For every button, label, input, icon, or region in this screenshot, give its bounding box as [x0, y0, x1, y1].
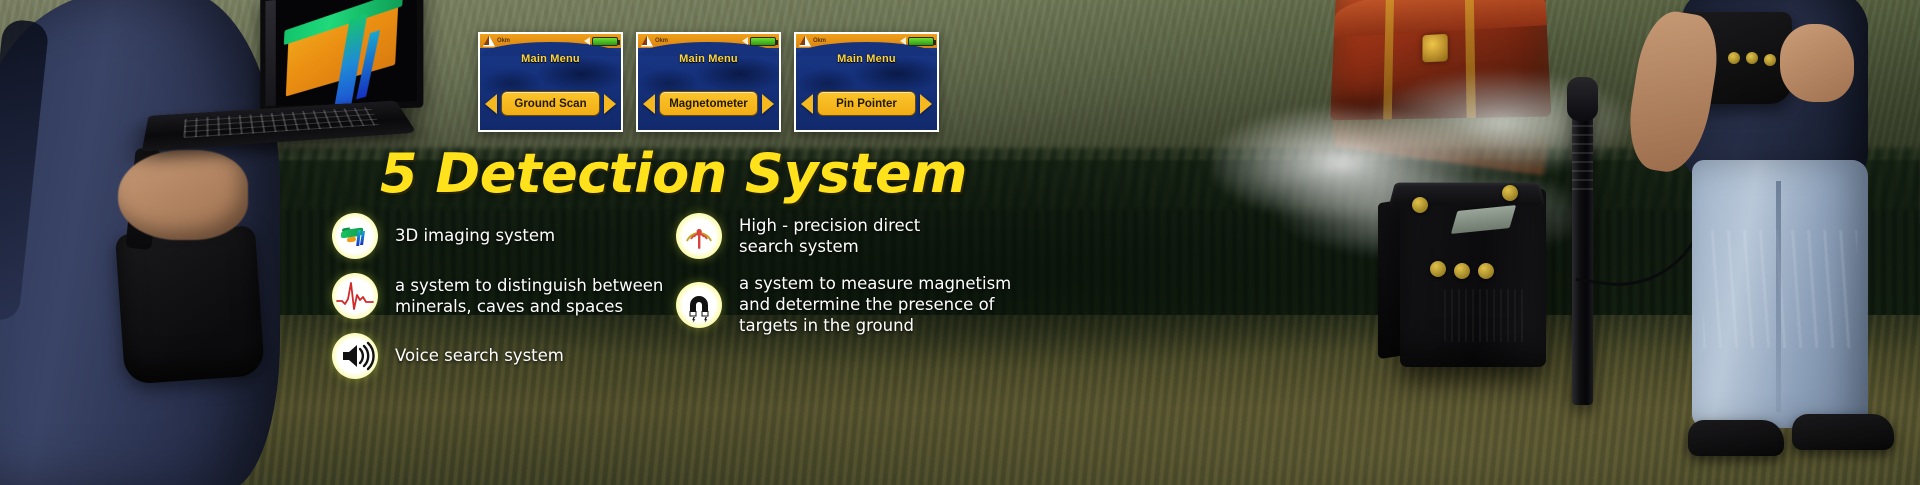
- operator-shoe-left: [1688, 420, 1784, 456]
- card-title: Main Menu: [796, 53, 937, 65]
- speaker-voice-icon: [332, 333, 378, 379]
- radio-signal-icon: [676, 213, 722, 259]
- card-status-icons: [742, 37, 776, 46]
- mode-value[interactable]: Ground Scan: [501, 91, 600, 116]
- logo-mark-icon: [641, 36, 653, 47]
- brand-label: Okm: [497, 38, 510, 44]
- page-title: 5 Detection System: [380, 142, 967, 205]
- feature-line: and determine the presence of: [739, 294, 1011, 315]
- device-top-knob-right: [1502, 185, 1518, 201]
- chest-lock-icon: [1422, 33, 1447, 62]
- magnet-icon: [676, 282, 722, 328]
- 3d-imaging-icon: [332, 213, 378, 259]
- device-knob-3: [1478, 263, 1494, 279]
- battery-full-icon: [750, 37, 776, 46]
- card-title: Main Menu: [480, 53, 621, 65]
- feature-line: targets in the ground: [739, 315, 1011, 336]
- ekg-waveform-icon: [332, 273, 378, 319]
- feature-line: a system to measure magnetism: [739, 273, 1011, 294]
- battery-full-icon: [592, 37, 618, 46]
- mode-selector[interactable]: Magnetometer: [643, 91, 774, 116]
- feature-line: Voice search system: [395, 345, 564, 366]
- battery-full-icon: [908, 37, 934, 46]
- feature-line: minerals, caves and spaces: [395, 296, 663, 317]
- card-status-bar: Okm: [796, 34, 937, 48]
- speaker-icon: [742, 37, 748, 45]
- prev-mode-arrow-icon[interactable]: [801, 94, 813, 114]
- prev-mode-arrow-icon[interactable]: [643, 94, 655, 114]
- laptop-keys: [183, 107, 380, 138]
- card-status-bar: Okm: [638, 34, 779, 48]
- feature-label: High - precision direct search system: [739, 215, 920, 257]
- brand-logo: Okm: [483, 36, 510, 47]
- feature-line: a system to distinguish between: [395, 275, 663, 296]
- treasure-chest: [1330, 0, 1551, 120]
- feature-item-magnetism: a system to measure magnetism and determ…: [676, 273, 1096, 336]
- laptop-device: [148, 0, 416, 160]
- card-status-icons: [900, 37, 934, 46]
- laptop-lid: [260, 0, 423, 112]
- feature-line: search system: [739, 236, 920, 257]
- pouch-knob-3: [1764, 54, 1776, 66]
- next-mode-arrow-icon[interactable]: [762, 94, 774, 114]
- operator-jeans: [1692, 160, 1868, 428]
- card-title: Main Menu: [638, 53, 779, 65]
- operator-with-probe: [1640, 0, 1920, 485]
- menu-card-pin-pointer[interactable]: Okm Main Menu Pin Pointer: [794, 32, 939, 132]
- pouch-knob-2: [1746, 52, 1758, 64]
- jeans-folds: [1703, 230, 1858, 348]
- mode-value[interactable]: Magnetometer: [659, 91, 758, 116]
- menu-card-magnetometer[interactable]: Okm Main Menu Magnetometer: [636, 32, 781, 132]
- feature-label: Voice search system: [395, 345, 564, 366]
- laptop-keyboard-base: [142, 101, 417, 152]
- next-mode-arrow-icon[interactable]: [604, 94, 616, 114]
- menu-card-group: Okm Main Menu Ground Scan Okm: [478, 32, 939, 132]
- card-status-icons: [584, 37, 618, 46]
- feature-item-high-precision: High - precision direct search system: [676, 213, 1096, 259]
- chest-body: [1330, 0, 1551, 120]
- brand-label: Okm: [813, 38, 826, 44]
- detector-main-unit: [1378, 175, 1546, 367]
- mode-value[interactable]: Pin Pointer: [817, 91, 916, 116]
- menu-card-ground-scan[interactable]: Okm Main Menu Ground Scan: [478, 32, 623, 132]
- next-mode-arrow-icon[interactable]: [920, 94, 932, 114]
- device-vents: [1444, 289, 1526, 342]
- operator-shoe-right: [1792, 414, 1894, 450]
- prev-mode-arrow-icon[interactable]: [485, 94, 497, 114]
- chest-band-left: [1383, 0, 1394, 119]
- pouch-knob-1: [1728, 52, 1740, 64]
- feature-line: High - precision direct: [739, 215, 920, 236]
- feature-label: a system to measure magnetism and determ…: [739, 273, 1011, 336]
- promo-banner: Okm Main Menu Ground Scan Okm: [0, 0, 1920, 485]
- speaker-icon: [900, 37, 906, 45]
- feature-line: 3D imaging system: [395, 225, 555, 246]
- brand-logo: Okm: [799, 36, 826, 47]
- mode-selector[interactable]: Pin Pointer: [801, 91, 932, 116]
- operator-hand: [118, 150, 248, 240]
- speaker-icon: [584, 37, 590, 45]
- logo-mark-icon: [483, 36, 495, 47]
- brand-label: Okm: [655, 38, 668, 44]
- device-knob-2: [1454, 263, 1470, 279]
- feature-list-right: High - precision direct search system a: [676, 213, 1096, 350]
- device-knob-1: [1430, 261, 1446, 277]
- 3d-scan-visualization: [286, 0, 399, 97]
- feature-label: a system to distinguish between minerals…: [395, 275, 663, 317]
- logo-mark-icon: [799, 36, 811, 47]
- software-toolbar: [265, 0, 275, 106]
- shoulder-bag: [115, 225, 265, 384]
- feature-label: 3D imaging system: [395, 225, 555, 246]
- mode-selector[interactable]: Ground Scan: [485, 91, 616, 116]
- device-top-knob-left: [1412, 197, 1428, 213]
- laptop-screen: [265, 0, 417, 106]
- chest-band-right: [1465, 0, 1476, 118]
- operator-right-hand: [1780, 24, 1854, 102]
- card-status-bar: Okm: [480, 34, 621, 48]
- brand-logo: Okm: [641, 36, 668, 47]
